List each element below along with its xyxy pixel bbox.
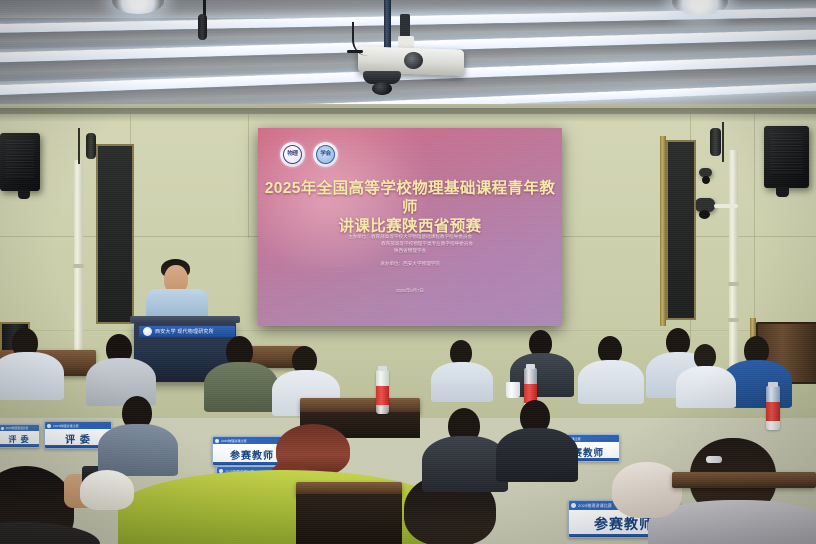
foreground-person-left-shoulder bbox=[0, 522, 100, 544]
placard-header: 2025物理讲课比赛 bbox=[578, 503, 612, 509]
logo-left-text: 物理 bbox=[287, 152, 297, 158]
projection-screen-frame: 物理 学会 2025年全国高等学校物理基础课程青年教师 讲课比赛陕西省预赛 主办… bbox=[258, 128, 562, 326]
placard-header: 2025物理讲课比赛 bbox=[53, 424, 79, 428]
placard-header: 2025物理讲课比赛 bbox=[6, 426, 28, 430]
audience-shoulders bbox=[98, 424, 178, 476]
slide-subtitle-line: 承办单位：西安大学物理学院 bbox=[258, 260, 562, 267]
projector-lens bbox=[404, 52, 423, 69]
wall-conduit bbox=[729, 150, 738, 370]
placard-logo bbox=[215, 439, 219, 443]
organizer-logo-primary: 物理 bbox=[280, 142, 305, 167]
placard-logo bbox=[571, 503, 576, 508]
slide-title: 2025年全国高等学校物理基础课程青年教师 讲课比赛陕西省预赛 bbox=[258, 180, 562, 237]
organizer-logo-secondary: 学会 bbox=[313, 142, 338, 167]
slide-date: 2025年6月7日 bbox=[258, 288, 562, 294]
chalkboard-right bbox=[666, 140, 696, 320]
audience-shoulders bbox=[0, 352, 64, 400]
door-frame-right bbox=[660, 136, 666, 326]
slide-subtitle-line: 主办单位：教育部高等学校大学物理基础课程教学指导委员会 bbox=[258, 233, 562, 240]
podium-banner-text: 西安大学 现代物理研究所 bbox=[155, 328, 214, 335]
water-bottle bbox=[766, 386, 780, 430]
audience-desk bbox=[672, 472, 816, 488]
placard-logo bbox=[1, 427, 4, 430]
name-placard: 2025物理讲课比赛 评 委 bbox=[0, 424, 40, 448]
podium-banner-logo bbox=[143, 327, 152, 336]
placard-header: 2025物理讲课比赛 bbox=[221, 439, 247, 443]
audience-shoulders bbox=[431, 362, 493, 402]
audience-shoulders bbox=[496, 428, 578, 482]
foreground-person-mid-right-head bbox=[612, 462, 682, 518]
paper-cup bbox=[506, 382, 520, 398]
wall-conduit bbox=[74, 160, 83, 360]
slide-subtitle-line: 陕西省物理学会 bbox=[258, 247, 562, 254]
slide-logos: 物理 学会 bbox=[280, 142, 338, 167]
slide-subtitle-block: 主办单位：教育部高等学校大学物理基础课程教学指导委员会 教育部高等学校物理学类专… bbox=[258, 233, 562, 267]
lecture-hall-photo: 物理 学会 2025年全国高等学校物理基础课程青年教师 讲课比赛陕西省预赛 主办… bbox=[0, 0, 816, 544]
placard-logo bbox=[47, 424, 51, 428]
audience-shoulders bbox=[578, 360, 644, 404]
water-bottle bbox=[376, 370, 389, 414]
chalkboard-left bbox=[96, 144, 134, 324]
ptz-camera-lens bbox=[372, 82, 392, 95]
logo-right-text: 学会 bbox=[320, 152, 330, 158]
projection-screen: 物理 学会 2025年全国高等学校物理基础课程青年教师 讲课比赛陕西省预赛 主办… bbox=[258, 128, 562, 326]
wall-speaker-left bbox=[0, 133, 40, 191]
audience-shoulders bbox=[204, 362, 278, 412]
podium-banner: 西安大学 现代物理研究所 bbox=[139, 326, 235, 337]
white-sun-hat bbox=[80, 470, 134, 510]
wall-speaker-right bbox=[764, 126, 809, 188]
slide-title-line1: 2025年全国高等学校物理基础课程青年教师 bbox=[258, 180, 562, 218]
audience-shoulders bbox=[676, 366, 736, 408]
hair-clip bbox=[706, 456, 722, 463]
slide-subtitle-line: 教育部高等学校物理学类专业教学指导委员会 bbox=[258, 240, 562, 247]
